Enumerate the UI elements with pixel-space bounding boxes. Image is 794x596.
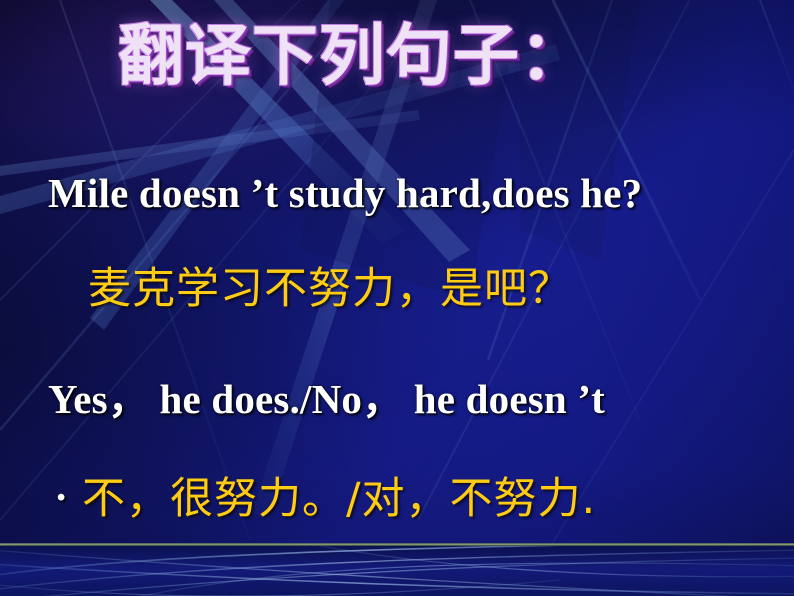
footer-line-pattern [0,546,794,596]
english-line-1: Mile doesn ’t study hard,does he? [48,172,758,215]
page-title: 翻译下列句子： [118,22,587,91]
english-trailing-period: . [56,466,66,507]
chinese-translation-1: 麦克学习不努力，是吧？ [88,264,648,316]
slide-canvas: 翻译下列句子： Mile doesn ’t study hard,does he… [0,0,794,596]
english-line-2: Yes， he does./No， he doesn ’t [48,378,778,421]
slide-content: 翻译下列句子： Mile doesn ’t study hard,does he… [0,0,794,596]
chinese-translation-2: 不，很努力。/对，不努力. [82,474,762,526]
footer-band [0,546,794,596]
